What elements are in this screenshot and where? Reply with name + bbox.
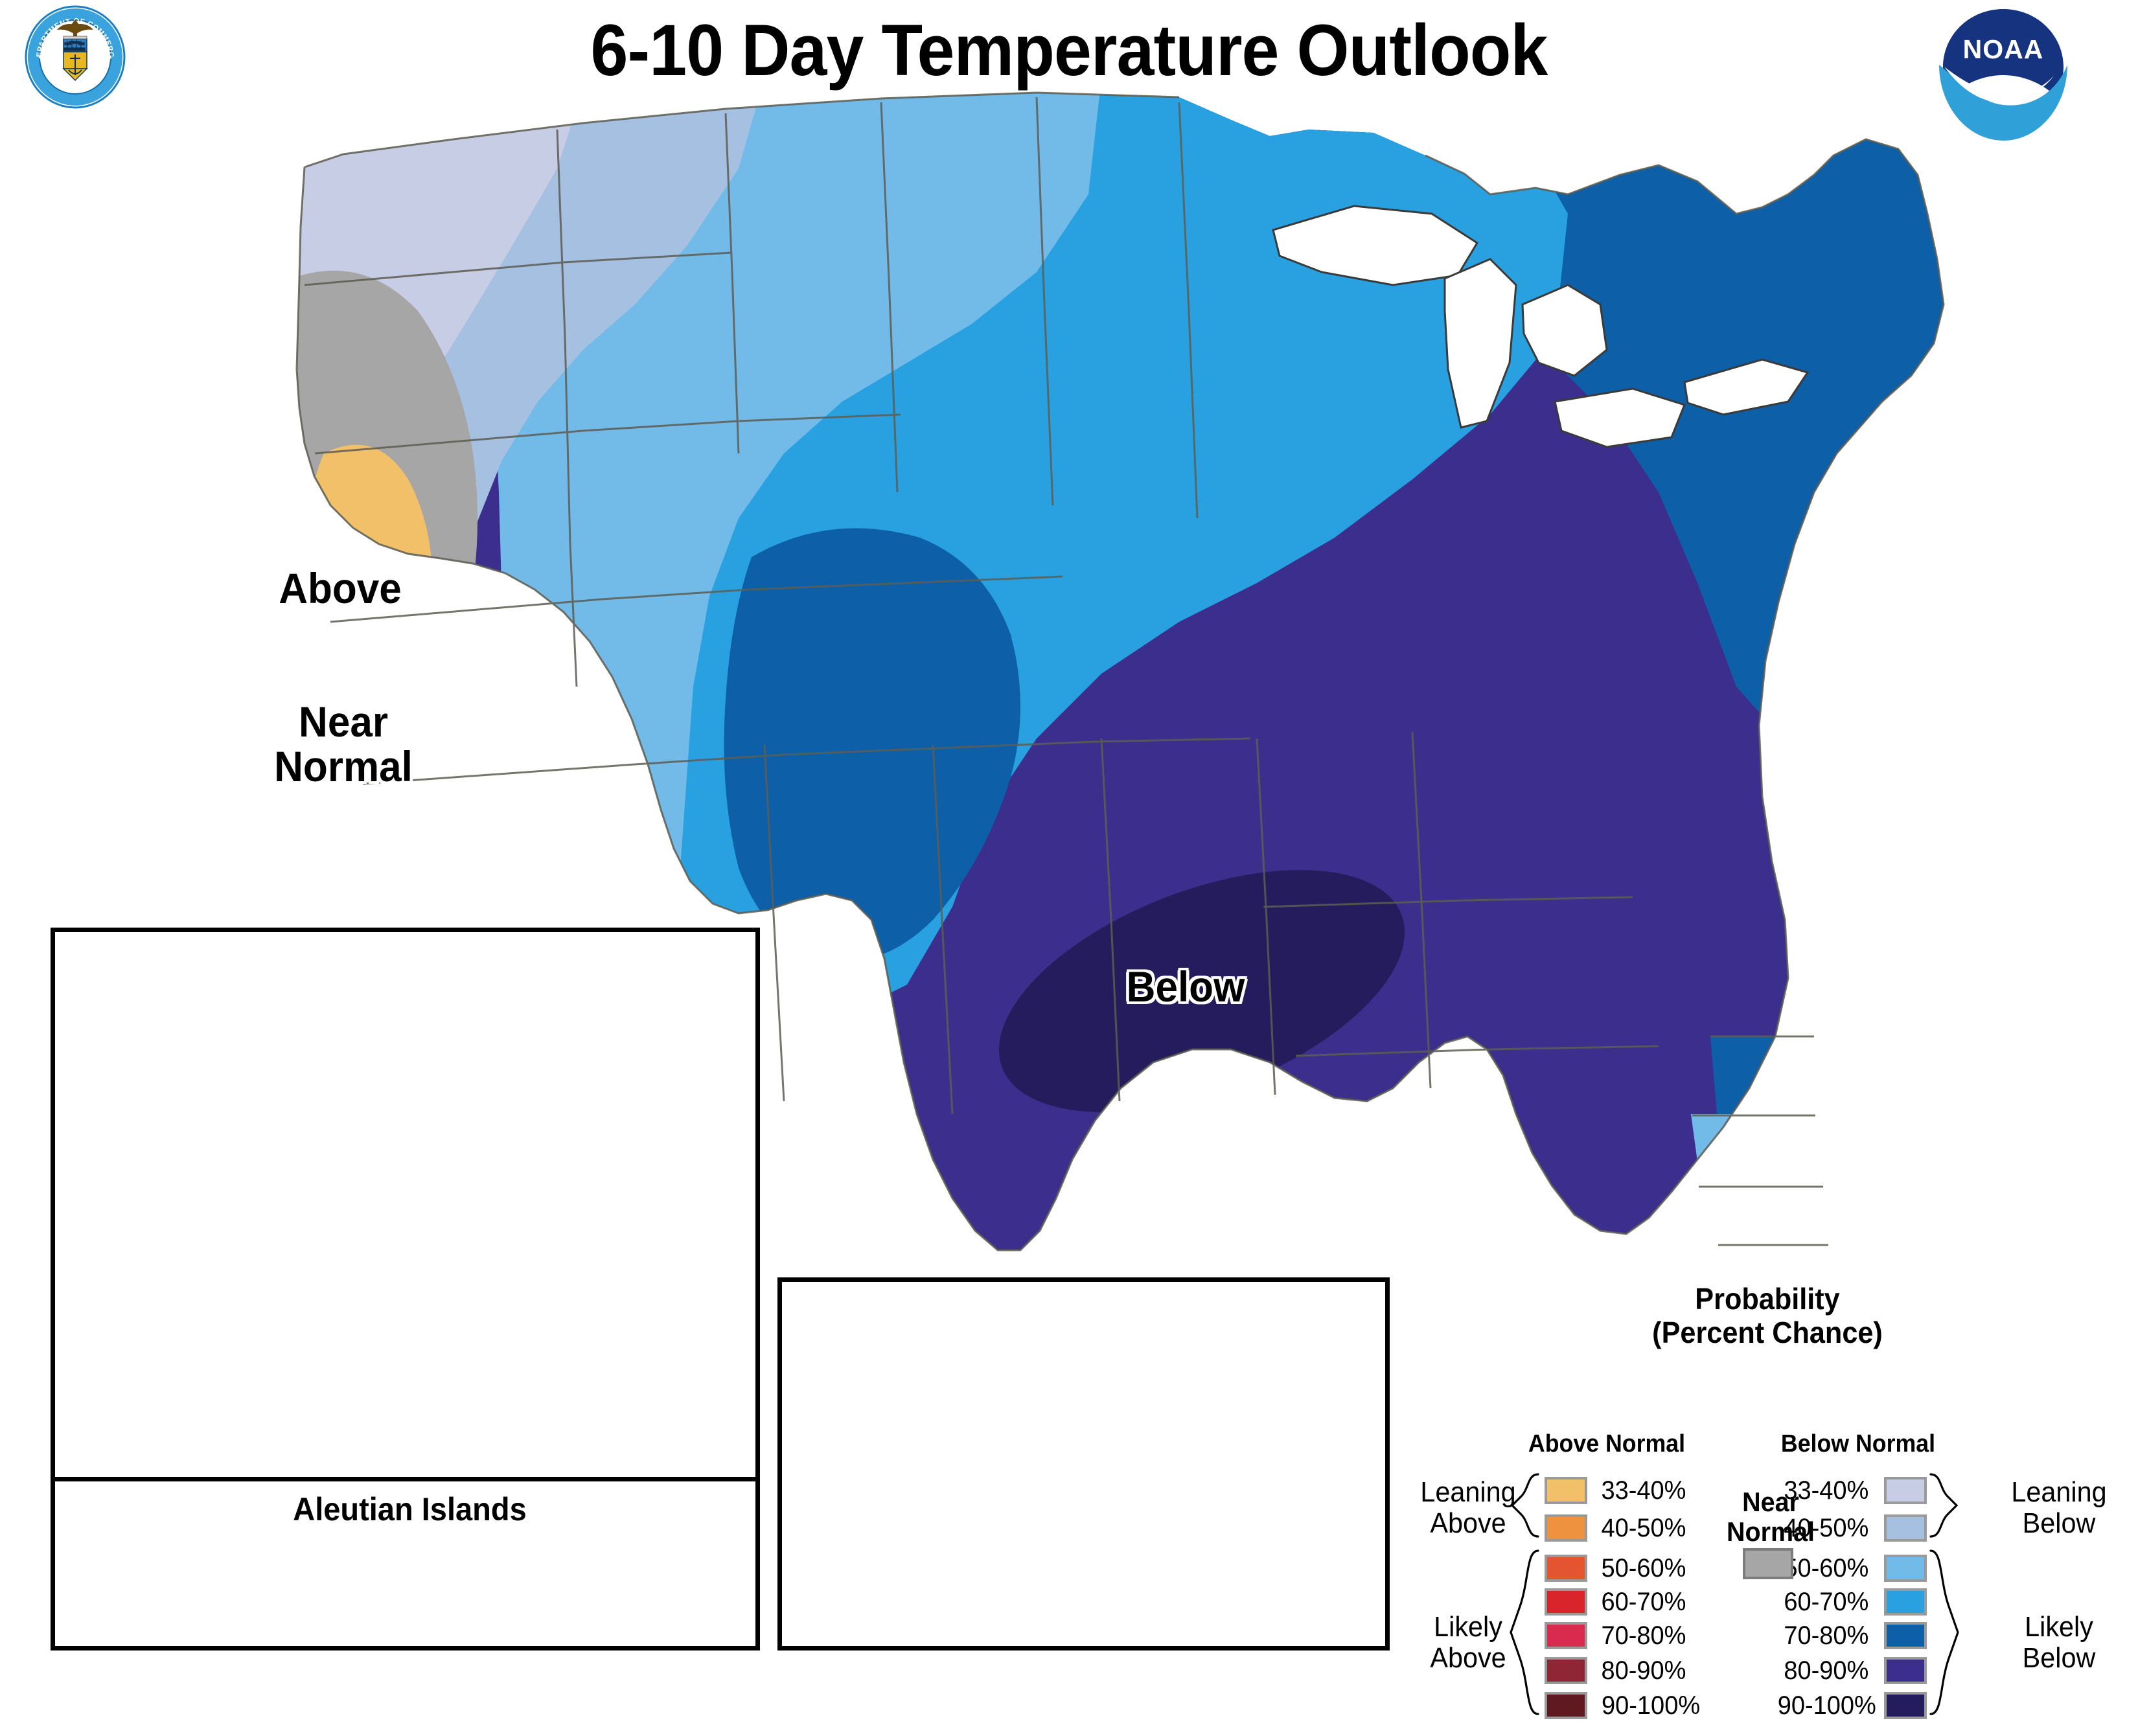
legend-swatch-above-60-70: [1545, 1588, 1587, 1616]
legend-likely-below-line2: Below: [1992, 1643, 2126, 1674]
legend: Probability (Percent Chance) Above Norma…: [1405, 1283, 2130, 1652]
hawaii-inset-panel: [777, 1277, 1390, 1650]
map-label-near-normal-line2: Normal: [234, 744, 453, 789]
legend-swatch-above-80-90: [1545, 1657, 1587, 1684]
legend-pct-above-80-90: 80-90%: [1601, 1656, 1686, 1685]
legend-leaning-above-label: Leaning Above: [1401, 1477, 1535, 1538]
legend-title-line1: Probability: [1427, 1283, 2109, 1316]
legend-likely-above-line2: Above: [1401, 1643, 1535, 1674]
legend-pct-above-60-70: 60-70%: [1601, 1588, 1686, 1617]
legend-leaning-above-line1: Leaning: [1401, 1477, 1535, 1508]
legend-pct-below-60-70: 60-70%: [1778, 1588, 1869, 1617]
legend-likely-above-label: Likely Above: [1401, 1612, 1535, 1673]
legend-pct-above-90-100: 90-100%: [1602, 1691, 1700, 1720]
legend-pct-above-33-40: 33-40%: [1601, 1476, 1686, 1505]
legend-swatch-above-70-80: [1545, 1622, 1587, 1649]
legend-pct-below-90-100: 90-100%: [1778, 1691, 1869, 1720]
aleutian-islands-title: Aleutian Islands: [76, 1490, 743, 1528]
legend-swatch-near-normal: [1743, 1548, 1793, 1579]
legend-swatch-below-33-40: [1884, 1477, 1927, 1504]
legend-swatch-above-50-60: [1545, 1555, 1587, 1582]
legend-leaning-above-line2: Above: [1401, 1508, 1535, 1539]
legend-swatch-below-50-60: [1884, 1555, 1927, 1582]
legend-near-normal-line2: Normal: [1713, 1517, 1829, 1547]
legend-pct-above-50-60: 50-60%: [1601, 1554, 1686, 1583]
alaska-inset-panel: [51, 928, 760, 1477]
legend-near-normal-line1: Near: [1713, 1487, 1829, 1517]
legend-leaning-below-label: Leaning Below: [1992, 1477, 2126, 1538]
legend-leaning-below-line1: Leaning: [1992, 1477, 2126, 1508]
legend-swatch-below-70-80: [1884, 1622, 1927, 1649]
aleutian-inset-panel: Aleutian Islands: [51, 1477, 760, 1650]
legend-pct-below-80-90: 80-90%: [1778, 1656, 1869, 1685]
legend-swatch-above-33-40: [1545, 1477, 1587, 1504]
legend-swatch-below-80-90: [1884, 1657, 1927, 1684]
legend-pct-below-70-80: 70-80%: [1778, 1621, 1869, 1650]
legend-above-header: Above Normal: [1510, 1430, 1705, 1458]
legend-pct-above-70-80: 70-80%: [1601, 1621, 1686, 1650]
map-label-above: Above: [236, 564, 444, 613]
legend-near-normal-label: Near Normal: [1713, 1487, 1829, 1547]
legend-likely-below-label: Likely Below: [1992, 1612, 2126, 1673]
legend-below-header: Below Normal: [1761, 1430, 1956, 1458]
legend-swatch-below-40-50: [1884, 1514, 1927, 1542]
legend-likely-above-line1: Likely: [1401, 1612, 1535, 1643]
legend-likely-below-line1: Likely: [1992, 1612, 2126, 1643]
legend-swatch-above-90-100: [1545, 1692, 1587, 1719]
legend-swatch-above-40-50: [1545, 1514, 1587, 1542]
map-label-below: Below: [1058, 962, 1314, 1011]
map-label-near-normal: Near Normal: [234, 700, 453, 788]
legend-swatch-below-60-70: [1884, 1588, 1927, 1616]
map-label-near-normal-line1: Near: [234, 700, 453, 744]
legend-swatch-below-90-100: [1884, 1692, 1927, 1719]
legend-title: Probability (Percent Chance): [1427, 1283, 2109, 1349]
legend-title-line2: (Percent Chance): [1427, 1316, 2109, 1350]
legend-leaning-below-line2: Below: [1992, 1508, 2126, 1539]
legend-pct-above-40-50: 40-50%: [1601, 1514, 1686, 1543]
